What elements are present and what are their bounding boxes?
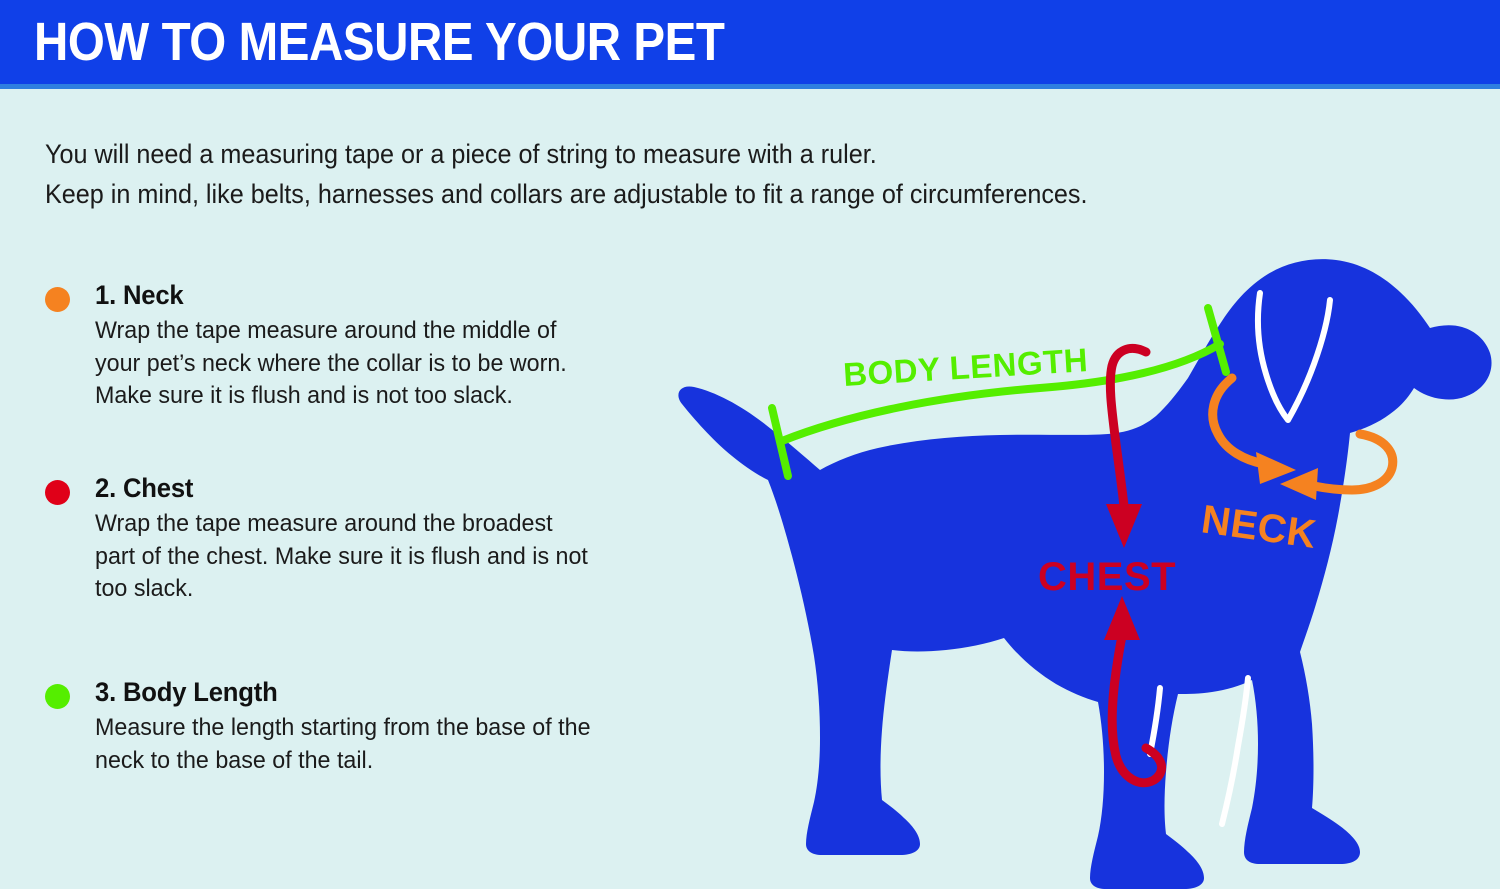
chest-label: CHEST xyxy=(1038,555,1176,599)
step-heading-body-length: 3. Body Length xyxy=(95,675,646,709)
step-body-chest: Wrap the tape measure around the broades… xyxy=(95,508,646,606)
infographic-page: HOW TO MEASURE YOUR PET You will need a … xyxy=(0,0,1500,889)
step-body-line: your pet’s neck where the collar is to b… xyxy=(95,348,646,381)
step-item-neck: 1. Neck Wrap the tape measure around the… xyxy=(45,278,675,413)
front-leg-separation-line xyxy=(1222,678,1248,824)
step-body-neck: Wrap the tape measure around the middle … xyxy=(95,315,646,413)
bullet-chest-icon xyxy=(45,480,70,505)
dog-measurement-diagram: BODY LENGTH NECK CHEST xyxy=(660,248,1500,889)
bullet-body-length-icon xyxy=(45,684,70,709)
step-heading-neck: 1. Neck xyxy=(95,278,646,312)
step-item-chest: 2. Chest Wrap the tape measure around th… xyxy=(45,471,675,606)
step-item-body-length: 3. Body Length Measure the length starti… xyxy=(45,675,675,777)
step-body-line: Wrap the tape measure around the middle … xyxy=(95,315,646,348)
step-body-body-length: Measure the length starting from the bas… xyxy=(95,712,646,777)
steps-list: 1. Neck Wrap the tape measure around the… xyxy=(0,0,680,889)
step-body-line: part of the chest. Make sure it is flush… xyxy=(95,541,646,574)
step-body-line: neck to the base of the tail. xyxy=(95,745,646,778)
step-body-line: too slack. xyxy=(95,573,646,606)
step-body-line: Wrap the tape measure around the broades… xyxy=(95,508,646,541)
step-body-line: Measure the length starting from the bas… xyxy=(95,712,646,745)
step-heading-chest: 2. Chest xyxy=(95,471,646,505)
step-body-line: Make sure it is flush and is not too sla… xyxy=(95,380,646,413)
bullet-neck-icon xyxy=(45,287,70,312)
